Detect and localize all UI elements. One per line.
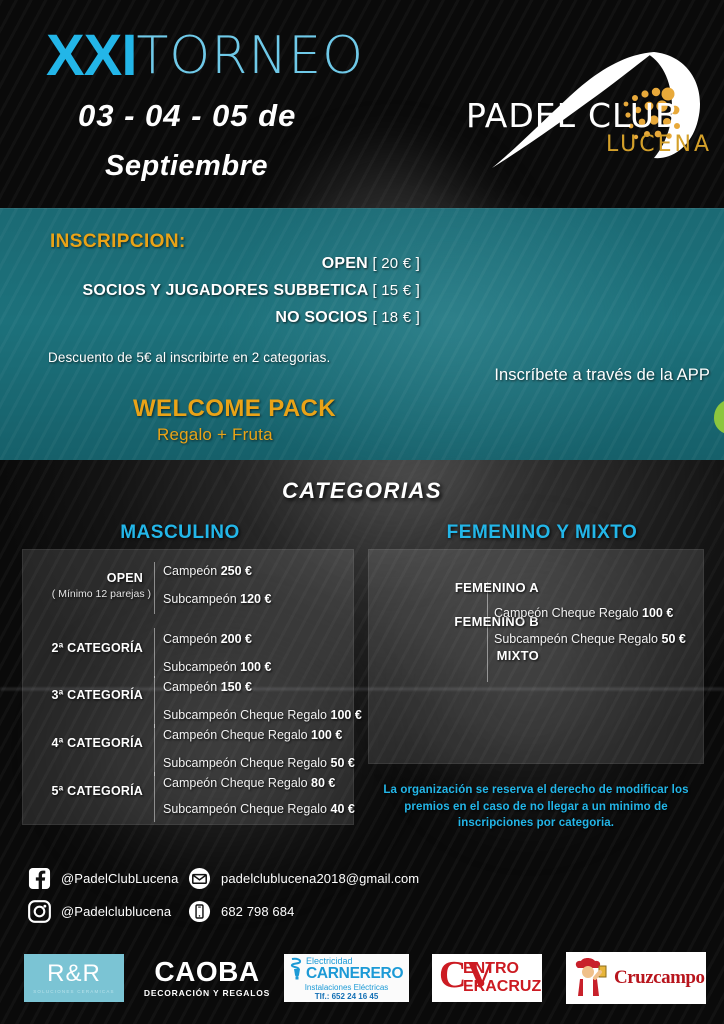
carnerero-top-row: Electricidad CARNERERO: [288, 957, 405, 982]
price-row: OPEN [ 20 € ]: [0, 255, 420, 273]
veracruz-line1: ENTRO: [463, 961, 519, 977]
row-divider: [154, 628, 155, 678]
prize-place: Campeón: [163, 564, 217, 578]
prize-amount: 50 €: [662, 632, 686, 646]
inscription-band: INSCRIPCION: OPEN [ 20 € ] SOCIOS Y JUGA…: [0, 208, 724, 460]
instagram-icon: [28, 900, 51, 923]
price-amount: [ 20 € ]: [373, 255, 420, 272]
prize-place: Subcampeón Cheque Regalo: [163, 708, 327, 722]
prize-item: Subcampeón 100 €: [163, 660, 271, 674]
padel-club-lucena-logo: PADEL CLUB LUCENA: [458, 42, 708, 172]
padelmanager-mark-icon: [712, 398, 724, 442]
instagram-handle: @Padelclublucena: [61, 904, 171, 919]
row-divider: [154, 724, 155, 776]
sponsor-cruzcampo[interactable]: Cruzcampo: [566, 952, 706, 1004]
category-label: 3ª CATEGORÍA: [23, 688, 143, 702]
email-address: padelclublucena2018@gmail.com: [221, 871, 419, 886]
event-month: Septiembre: [105, 150, 268, 183]
caoba-tagline: DECORACIÓN Y REGALOS: [142, 988, 272, 998]
prize-item: Campeón Cheque Regalo 100 €: [163, 728, 342, 742]
prize-place: Subcampeón Cheque Regalo: [163, 756, 327, 770]
prize-amount: 50 €: [331, 756, 355, 770]
price-list: OPEN [ 20 € ] SOCIOS Y JUGADORES SUBBETI…: [0, 255, 420, 336]
caoba-wordmark: CAOBA: [142, 958, 272, 986]
price-amount: [ 18 € ]: [373, 309, 420, 326]
price-row: SOCIOS Y JUGADORES SUBBETICA [ 15 € ]: [0, 282, 420, 300]
prize-item: Campeón Cheque Regalo 80 €: [163, 776, 335, 790]
prize-amount: 100 €: [240, 660, 271, 674]
sponsor-carnerero[interactable]: Electricidad CARNERERO Instalaciones Elé…: [284, 954, 409, 1002]
category-sublabel: ( Mínimo 12 parejas ): [23, 588, 151, 600]
prize-place: Subcampeón: [163, 660, 237, 674]
prize-amount: 100 €: [331, 708, 362, 722]
carnerero-wordmark: CARNERERO: [306, 966, 403, 982]
row-divider: [154, 772, 155, 822]
category-label: OPEN: [23, 571, 143, 585]
prize-amount: 40 €: [331, 802, 355, 816]
welcome-pack-title: WELCOME PACK: [133, 395, 336, 423]
sponsor-centro-veracruz[interactable]: CV ENTRO ERACRUZ: [432, 954, 542, 1002]
cruzcampo-wordmark: Cruzcampo: [614, 967, 704, 989]
ryr-tagline: SOLUCIONES CERAMICAS: [33, 989, 115, 994]
instagram-contact[interactable]: @Padelclublucena: [28, 900, 171, 923]
prize-item: Subcampeón 120 €: [163, 592, 271, 606]
prize-place: Campeón Cheque Regalo: [163, 776, 308, 790]
discount-note: Descuento de 5€ al inscribirte en 2 cate…: [48, 350, 330, 365]
tournament-poster: XXITORNEO 03 - 04 - 05 de Septiembre: [0, 0, 724, 1024]
price-amount: [ 15 € ]: [373, 282, 420, 299]
prize-amount: 100 €: [311, 728, 342, 742]
event-word: TORNEO: [137, 26, 365, 86]
masculino-prize-panel: OPEN ( Mínimo 12 parejas ) Campeón 250 €…: [22, 549, 354, 825]
email-icon: [188, 867, 211, 890]
prize-item: Subcampeón Cheque Regalo 100 €: [163, 708, 362, 722]
prize-place: Subcampeón Cheque Regalo: [494, 632, 658, 646]
welcome-pack-subtitle: Regalo + Fruta: [157, 425, 273, 445]
category-label: 2ª CATEGORÍA: [23, 641, 143, 655]
facebook-icon: [28, 867, 51, 890]
prize-item: Campeón Cheque Regalo 100 €: [494, 606, 673, 620]
prize-item: Campeón 150 €: [163, 680, 252, 694]
price-label: SOCIOS Y JUGADORES SUBBETICA: [83, 282, 368, 299]
sponsor-ryr[interactable]: R&R SOLUCIONES CERAMICAS: [24, 954, 124, 1002]
phone-contact[interactable]: 682 798 684: [188, 900, 294, 923]
prize-amount: 80 €: [311, 776, 335, 790]
price-label: NO SOCIOS: [275, 309, 367, 326]
app-signup-line: Inscríbete a través de la APP: [494, 366, 710, 385]
facebook-contact[interactable]: @PadelClubLucena: [28, 867, 178, 890]
prize-place: Campeón: [163, 632, 217, 646]
email-contact[interactable]: padelclublucena2018@gmail.com: [188, 867, 419, 890]
row-divider: [154, 676, 155, 728]
sponsor-caoba[interactable]: CAOBA DECORACIÓN Y REGALOS: [142, 958, 272, 998]
categories-heading: CATEGORIAS: [0, 478, 724, 504]
prize-amount: 250 €: [221, 564, 252, 578]
event-dates: 03 - 04 - 05 de: [78, 98, 296, 134]
prize-item: Campeón 200 €: [163, 632, 252, 646]
carnerero-phone: Tlf.: 652 24 16 45: [288, 992, 405, 1001]
phone-number: 682 798 684: [221, 904, 294, 919]
logo-text-club: CLUB: [588, 96, 679, 135]
lightbulb-icon: [288, 957, 304, 981]
prize-place: Campeón Cheque Regalo: [494, 606, 639, 620]
price-row: NO SOCIOS [ 18 € ]: [0, 309, 420, 327]
facebook-handle: @PadelClubLucena: [61, 871, 178, 886]
femenino-column-title: FEMENINO Y MIXTO: [360, 522, 724, 544]
femenino-mixto-prize-panel: FEMENINO A FEMENINO B MIXTO Campeón Cheq…: [368, 549, 704, 764]
prize-amount: 200 €: [221, 632, 252, 646]
veracruz-wordmark: CV ENTRO ERACRUZ: [437, 957, 537, 999]
prize-amount: 120 €: [240, 592, 271, 606]
sponsor-bar: R&R SOLUCIONES CERAMICAS CAOBA DECORACIÓ…: [0, 944, 724, 1024]
edition-number: XXI: [46, 22, 137, 89]
veracruz-line2: ERACRUZ: [463, 979, 541, 995]
logo-text-padel: PADEL: [466, 96, 576, 135]
category-label: MIXTO: [369, 648, 539, 663]
category-label: 4ª CATEGORÍA: [23, 736, 143, 750]
row-divider: [487, 582, 488, 682]
prize-item: Subcampeón Cheque Regalo 50 €: [163, 756, 355, 770]
inscription-title: INSCRIPCION:: [50, 231, 186, 253]
price-label: OPEN: [322, 255, 368, 272]
masculino-column-title: MASCULINO: [0, 522, 360, 544]
prize-item: Subcampeón Cheque Regalo 40 €: [163, 802, 355, 816]
prize-place: Campeón Cheque Regalo: [163, 728, 308, 742]
carnerero-tagline: Instalaciones Eléctricas: [288, 983, 405, 992]
prize-place: Subcampeón: [163, 592, 237, 606]
contact-section: @PadelClubLucena @Padelclublucena padelc…: [0, 860, 724, 940]
poster-header: XXITORNEO 03 - 04 - 05 de Septiembre: [0, 0, 724, 208]
row-divider: [154, 562, 155, 614]
event-title: XXITORNEO: [46, 22, 364, 89]
prize-amount: 150 €: [221, 680, 252, 694]
prize-place: Subcampeón Cheque Regalo: [163, 802, 327, 816]
cruzcampo-mascot-icon: [570, 956, 612, 1000]
ryr-wordmark: R&R: [47, 962, 101, 986]
category-label: FEMENINO A: [369, 580, 539, 595]
category-label: 5ª CATEGORÍA: [23, 784, 143, 798]
prize-disclaimer: La organización se reserva el derecho de…: [368, 782, 704, 832]
prize-place: Campeón: [163, 680, 217, 694]
prize-item: Campeón 250 €: [163, 564, 252, 578]
prize-item: Subcampeón Cheque Regalo 50 €: [494, 632, 686, 646]
phone-icon: [188, 900, 211, 923]
logo-text-lucena: LUCENA: [606, 132, 712, 157]
prize-amount: 100 €: [642, 606, 673, 620]
